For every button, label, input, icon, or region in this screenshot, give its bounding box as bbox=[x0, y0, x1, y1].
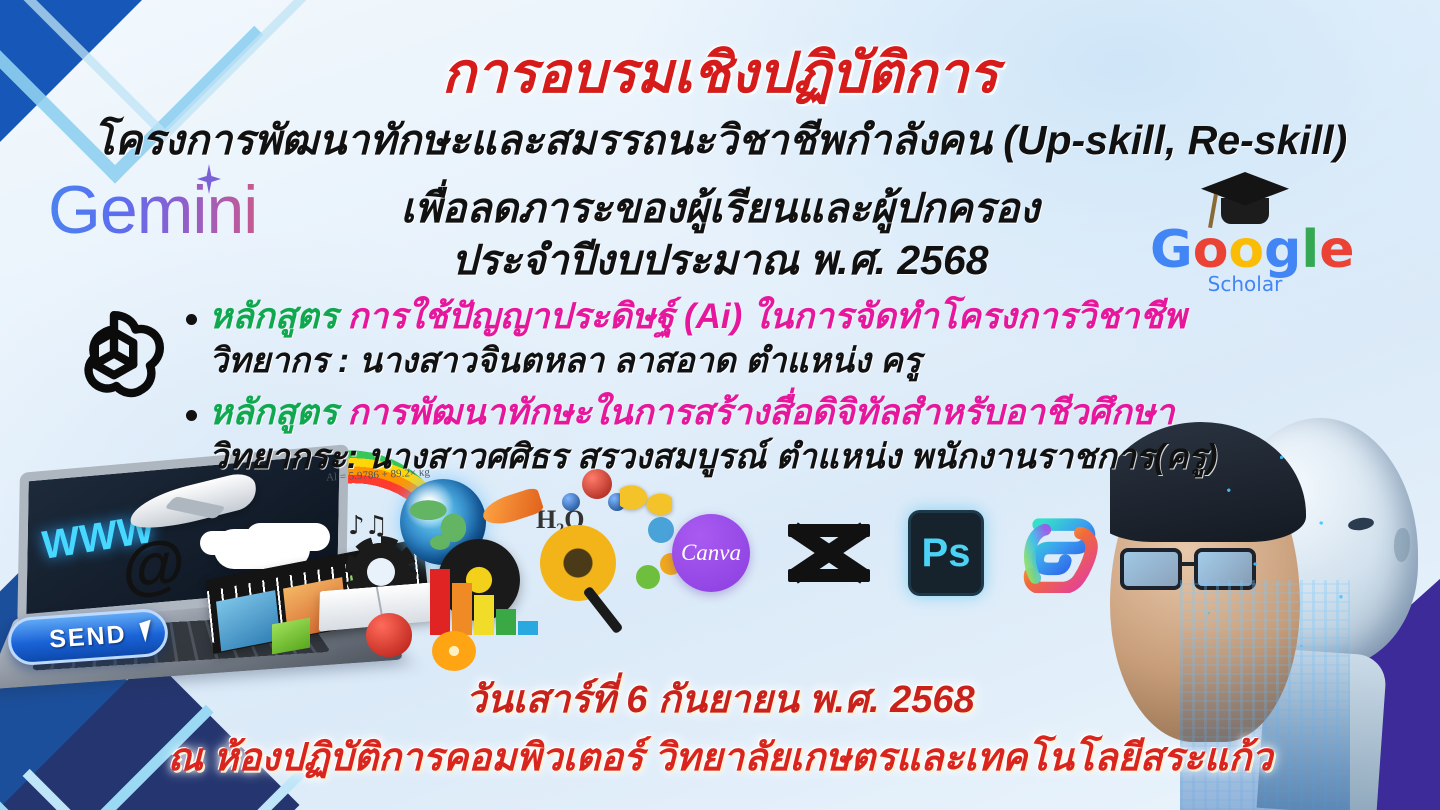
bullet-dot-icon bbox=[186, 314, 197, 325]
list-item: หลักสูตร การพัฒนาทักษะในการสร้างสื่อดิจิ… bbox=[186, 392, 1376, 478]
capcut-logo bbox=[786, 516, 872, 590]
poster-canvas: WWW @ SEND Al = 5.9786 + 89.2× kg ♪♫ H2O bbox=[0, 0, 1440, 810]
course-name: การใช้ปัญญาประดิษฐ์ (Ai) ในการจัดทำโครงก… bbox=[347, 297, 1186, 336]
chart-bar bbox=[496, 609, 516, 635]
butterfly-icon bbox=[620, 483, 672, 521]
chart-bar bbox=[518, 621, 538, 635]
course-list: หลักสูตร การใช้ปัญญาประดิษฐ์ (Ai) ในการจ… bbox=[186, 296, 1376, 488]
course-title: หลักสูตร การพัฒนาทักษะในการสร้างสื่อดิจิ… bbox=[209, 392, 1174, 433]
photoshop-wordmark: Ps bbox=[922, 531, 971, 576]
microsoft-copilot-logo bbox=[1020, 513, 1104, 593]
course-speaker: วิทยากระ: นางสาวศศิธร สรวงสมบูรณ์ ตำแหน่… bbox=[209, 437, 1376, 478]
canva-logo: Canva bbox=[672, 514, 750, 592]
event-date: วันเสาร์ที่ 6 กันยายน พ.ศ. 2568 bbox=[0, 668, 1440, 729]
send-button-label: SEND bbox=[48, 620, 127, 654]
apple-icon bbox=[366, 613, 412, 657]
capcut-top-bar bbox=[788, 524, 870, 537]
orange-slice-icon bbox=[432, 631, 476, 671]
event-venue: ณ ห้องปฏิบัติการคอมพิวเตอร์ วิทยาลัยเกษต… bbox=[0, 726, 1440, 787]
course-name: การพัฒนาทักษะในการสร้างสื่อดิจิทัลสำหรับ… bbox=[347, 393, 1174, 432]
color-dot bbox=[648, 517, 674, 543]
subtitle-line-3: ประจำปีงบประมาณ พ.ศ. 2568 bbox=[0, 228, 1440, 293]
photoshop-logo: Ps bbox=[908, 510, 984, 596]
magnifier-handle bbox=[582, 586, 623, 635]
course-label: หลักสูตร bbox=[209, 393, 338, 432]
color-dot bbox=[636, 565, 660, 589]
subtitle-line-1: โครงการพัฒนาทักษะและสมรรถนะวิชาชีพกำลังค… bbox=[0, 108, 1440, 173]
openai-logo bbox=[54, 296, 174, 416]
film-frame bbox=[216, 590, 280, 651]
course-label: หลักสูตร bbox=[209, 297, 338, 336]
bullet-dot-icon bbox=[186, 410, 197, 421]
canva-wordmark: Canva bbox=[681, 540, 741, 566]
app-logo-row: Canva Ps bbox=[672, 510, 1104, 596]
page-title: การอบรมเชิงปฏิบัติการ bbox=[0, 28, 1440, 117]
course-speaker: วิทยากร : นางสาวจินตหลา ลาสอาด ตำแหน่ง ค… bbox=[209, 341, 1376, 382]
at-symbol-icon: @ bbox=[122, 530, 185, 600]
course-title: หลักสูตร การใช้ปัญญาประดิษฐ์ (Ai) ในการจ… bbox=[209, 296, 1186, 337]
bar-chart-icon bbox=[430, 565, 540, 635]
chart-bar bbox=[474, 595, 494, 635]
list-item: หลักสูตร การใช้ปัญญาประดิษฐ์ (Ai) ในการจ… bbox=[186, 296, 1376, 382]
chart-bar bbox=[430, 569, 450, 635]
chart-bar bbox=[452, 583, 472, 635]
sunflower-magnifier-icon bbox=[540, 525, 616, 601]
capcut-bottom-bar bbox=[788, 569, 870, 582]
fish-icon bbox=[479, 486, 544, 529]
